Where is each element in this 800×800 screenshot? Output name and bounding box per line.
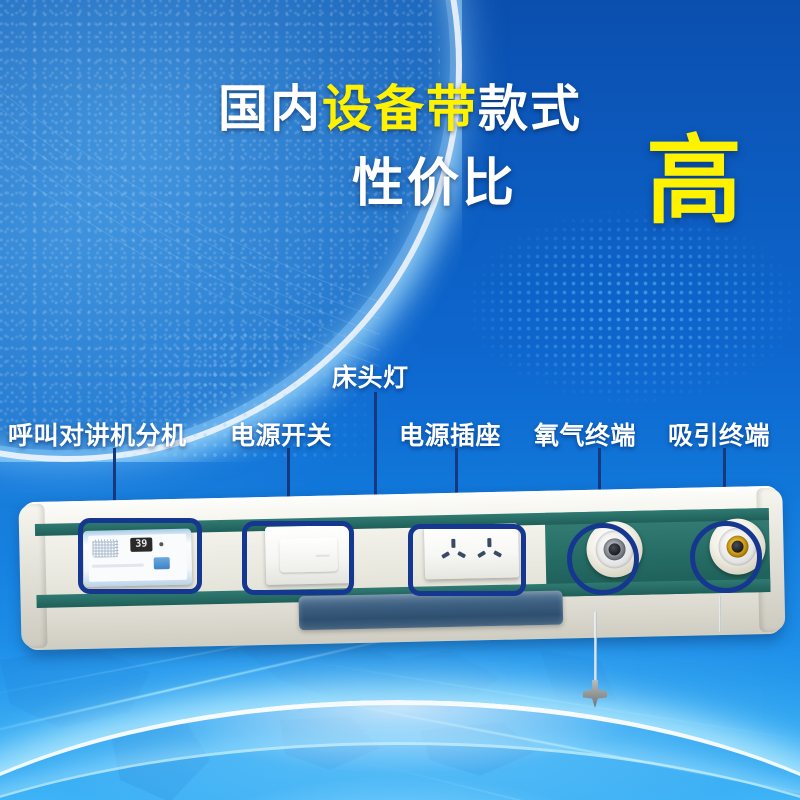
callout-label-oxygen-terminal: 氧气终端	[534, 416, 636, 452]
callout-label-bed-head-lamp: 床头灯	[332, 358, 409, 394]
promo-banner: 国内设备带款式 性价比 高 呼叫对讲机分机 电源开关 床头灯 电源插座 氧气终端…	[0, 0, 800, 800]
highlight-outline-suction-terminal	[690, 521, 762, 593]
headline-emphasis-high: 高	[646, 134, 742, 230]
headline-text-bedhead: 设备带	[322, 81, 478, 137]
highlight-outline-power-socket	[408, 524, 526, 596]
bed-head-lamp[interactable]	[299, 591, 564, 631]
callout-label-power-switch: 电源开关	[230, 416, 332, 452]
headline-line-1: 国内设备带款式	[0, 84, 800, 134]
headline-block: 国内设备带款式 性价比 高	[0, 84, 800, 134]
headline-line-2: 性价比	[352, 158, 517, 210]
halftone-map-pattern	[470, 180, 800, 410]
highlight-outline-power-switch	[242, 521, 354, 595]
highlight-outline-oxygen-terminal	[567, 523, 639, 595]
callout-label-power-socket: 电源插座	[399, 416, 501, 452]
headline-text-style: 款式	[478, 81, 582, 137]
callout-label-suction-terminal: 吸引终端	[668, 416, 770, 452]
callout-label-nurse-call-intercom: 呼叫对讲机分机	[8, 416, 187, 452]
highlight-outline-nurse-call-intercom	[78, 518, 202, 594]
suction-hose-cord	[719, 596, 721, 632]
pull-switch-cord[interactable]	[594, 612, 597, 686]
headline-text-domestic: 国内	[218, 81, 322, 137]
